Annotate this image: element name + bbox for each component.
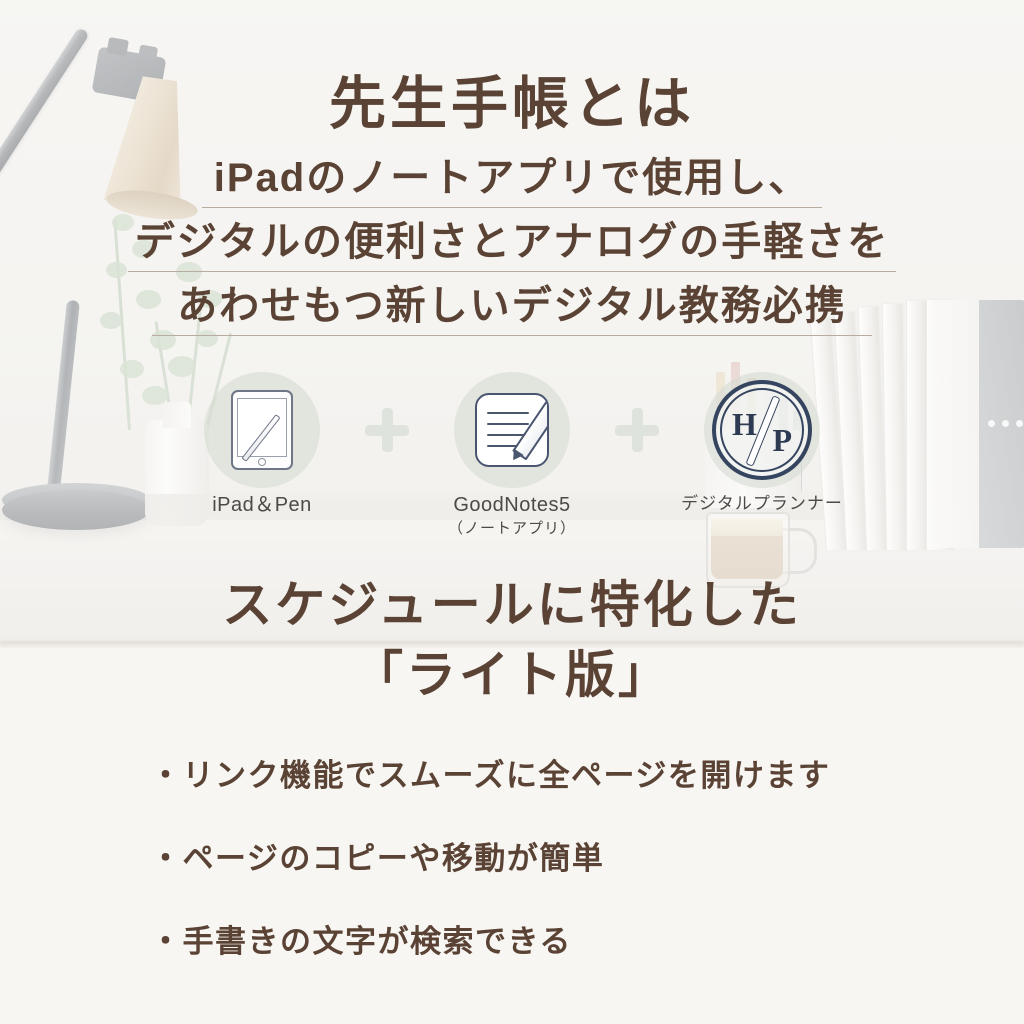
note-line	[487, 423, 529, 425]
formula-item-ipad: iPad＆Pen	[177, 372, 347, 517]
formula-item-label: GoodNotes5	[453, 494, 570, 517]
hp-logo-letter-h: H	[732, 408, 757, 440]
plus-icon-2	[615, 408, 659, 452]
formula-item-label: デジタルプランナー	[681, 494, 843, 514]
section-heading-line-1: スケジュールに特化した	[0, 580, 1024, 630]
formula-item-sublabel: （ノートアプリ）	[448, 517, 576, 538]
formula-item-planner: H P デジタルプランナー	[677, 372, 847, 514]
list-item: ・手書きの文字が検索できる	[150, 926, 970, 957]
feature-list: ・リンク機能でスムーズに全ページを開けます ・ページのコピーや移動が簡単 ・手書…	[150, 760, 970, 1009]
subtitle-underline-3	[152, 335, 872, 336]
subtitle-line-1: iPadのノートアプリで使用し、	[0, 158, 1024, 198]
formula-item-label: iPad＆Pen	[212, 494, 312, 517]
poster-content: 先生手帳とは iPadのノートアプリで使用し、 デジタルの便利さとアナログの手軽…	[0, 0, 1024, 1024]
poster-canvas: 先生手帳とは iPadのノートアプリで使用し、 デジタルの便利さとアナログの手軽…	[0, 0, 1024, 1024]
ipad-pen-icon	[204, 372, 320, 488]
list-item: ・ページのコピーや移動が簡単	[150, 843, 970, 874]
subtitle-underline-2	[128, 271, 896, 272]
section-heading-line-2: 「ライト版」	[0, 650, 1024, 700]
ipad-home-button	[258, 458, 266, 466]
goodnotes-shape	[475, 393, 549, 467]
hp-planner-logo-icon: H P	[704, 372, 820, 488]
ipad-shape	[231, 390, 293, 470]
hp-logo-shape: H P	[712, 380, 812, 480]
hp-logo-letter-p: P	[772, 424, 792, 456]
page-title: 先生手帳とは	[0, 76, 1024, 133]
subtitle-line-2: デジタルの便利さとアナログの手軽さを	[0, 222, 1024, 262]
formula-item-goodnotes: GoodNotes5 （ノートアプリ）	[427, 372, 597, 538]
note-line	[487, 412, 529, 414]
formula-row: iPad＆Pen GoodNotes5 （ノートアプリ）	[0, 372, 1024, 532]
subtitle-underline-1	[202, 207, 822, 208]
pencil-icon	[512, 400, 549, 461]
subtitle-line-3: あわせもつ新しいデジタル教務必携	[0, 286, 1024, 326]
plus-icon-1	[365, 408, 409, 452]
ipad-screen	[237, 398, 287, 457]
goodnotes-app-icon	[454, 372, 570, 488]
list-item: ・リンク機能でスムーズに全ページを開けます	[150, 760, 970, 791]
